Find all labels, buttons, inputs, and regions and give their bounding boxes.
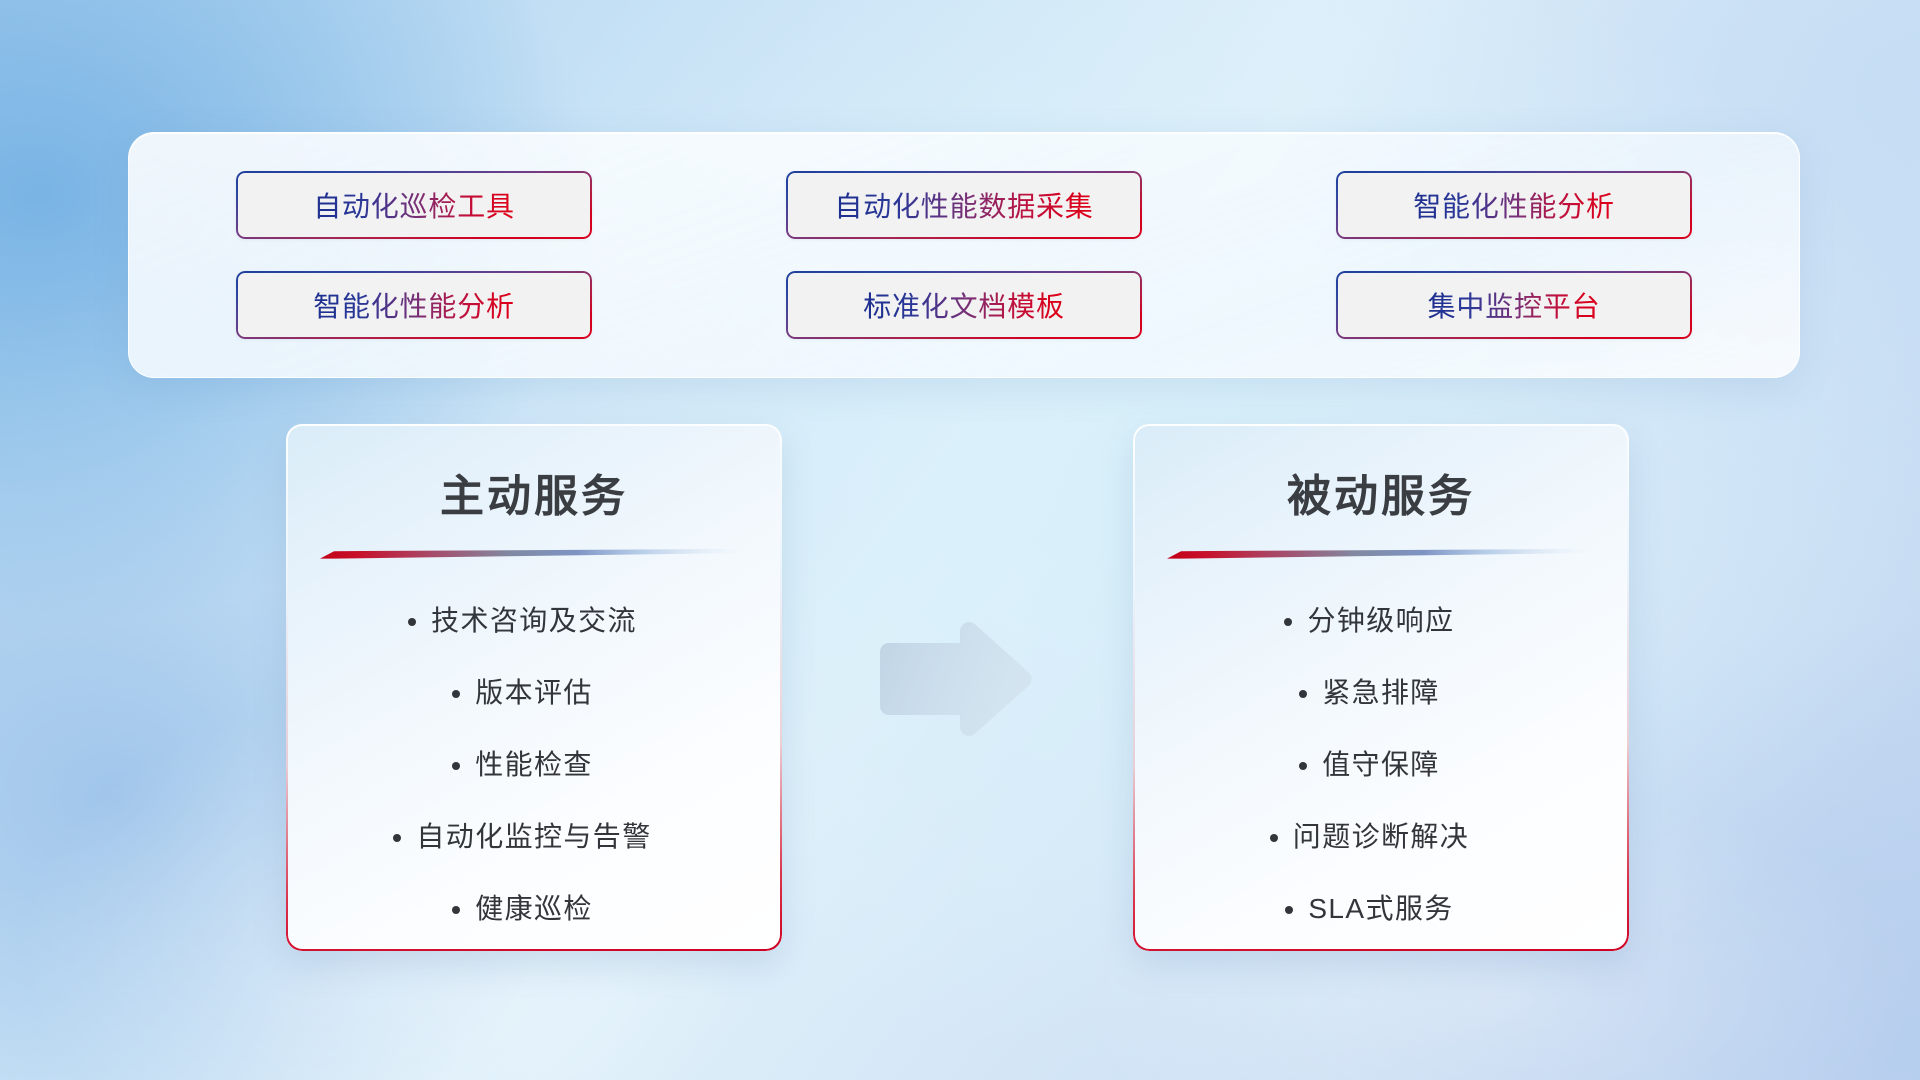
capability-pill-label: 智能化性能分析: [1413, 185, 1615, 225]
capability-panel: 自动化巡检工具 自动化性能数据采集 智能化性能分析 智能化性能分析 标准化文档模…: [128, 132, 1800, 378]
service-list-item: 健康巡检: [475, 887, 593, 927]
service-list-item: 自动化监控与告警: [416, 815, 651, 855]
service-list-item: SLA式服务: [1308, 887, 1453, 927]
capability-pill-label: 自动化巡检工具: [313, 185, 515, 225]
capability-pill-label: 智能化性能分析: [313, 285, 515, 325]
service-card-proactive: 主动服务 技术咨询及: [286, 424, 782, 951]
title-divider: [1167, 548, 1595, 559]
service-item-list: 技术咨询及交流 版本评估 性能检查 自动化监控与告警 健康巡检: [286, 599, 782, 927]
capability-pill-label: 集中监控平台: [1428, 285, 1601, 325]
capability-pill[interactable]: 智能化性能分析: [236, 271, 592, 339]
capability-pill-label: 自动化性能数据采集: [834, 185, 1093, 225]
service-card-title: 被动服务: [1133, 460, 1629, 524]
capability-pill[interactable]: 自动化巡检工具: [236, 171, 592, 239]
capability-pill[interactable]: 自动化性能数据采集: [786, 171, 1142, 239]
service-card-title: 主动服务: [286, 460, 782, 524]
service-list-item: 问题诊断解决: [1293, 815, 1469, 855]
service-list-item: 紧急排障: [1322, 671, 1440, 711]
capability-pill[interactable]: 标准化文档模板: [786, 271, 1142, 339]
service-list-item: 版本评估: [475, 671, 593, 711]
service-list-item: 值守保障: [1322, 743, 1440, 783]
capability-pill[interactable]: 集中监控平台: [1336, 271, 1692, 339]
title-divider: [320, 548, 748, 559]
arrow-right-icon: [872, 620, 1037, 738]
capability-pill-label: 标准化文档模板: [863, 285, 1065, 325]
service-list-item: 技术咨询及交流: [431, 599, 637, 639]
infographic-canvas: 自动化巡检工具 自动化性能数据采集 智能化性能分析 智能化性能分析 标准化文档模…: [0, 0, 1920, 1080]
service-list-item: 分钟级响应: [1307, 599, 1454, 639]
capability-pill-grid: 自动化巡检工具 自动化性能数据采集 智能化性能分析 智能化性能分析 标准化文档模…: [236, 171, 1692, 339]
capability-pill[interactable]: 智能化性能分析: [1336, 171, 1692, 239]
service-list-item: 性能检查: [475, 743, 593, 783]
service-item-list: 分钟级响应 紧急排障 值守保障 问题诊断解决 SLA式服务: [1133, 599, 1629, 927]
service-card-reactive: 被动服务 分钟级响应: [1133, 424, 1629, 951]
